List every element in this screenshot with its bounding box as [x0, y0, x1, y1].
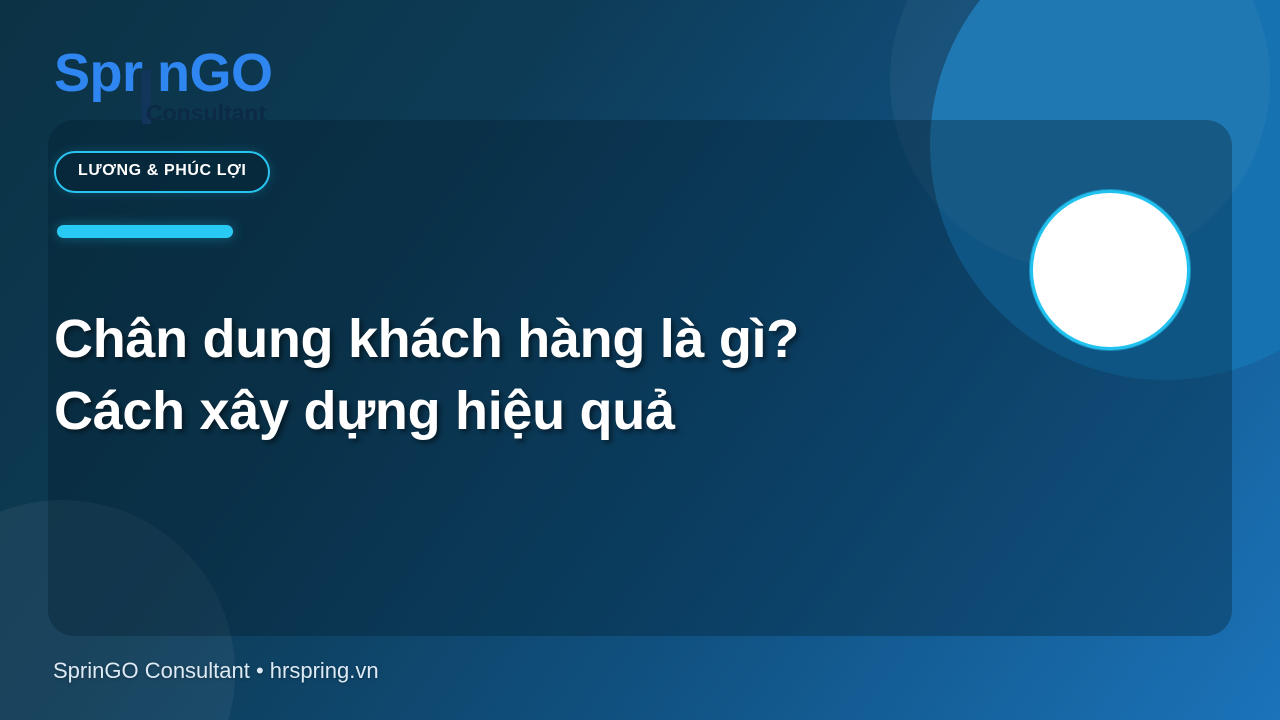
logo-subtitle: Consultant: [146, 102, 266, 125]
logo-word-after: nGO: [157, 43, 273, 103]
page-title-line-2: Cách xây dựng hiệu quả: [54, 376, 1004, 448]
page-title-line-1: Chân dung khách hàng là gì?: [54, 304, 1004, 376]
page-title: Chân dung khách hàng là gì? Cách xây dựn…: [54, 304, 1004, 448]
slide-canvas: SprinGO Consultant LƯƠNG & PHÚC LỢI Chân…: [0, 0, 1280, 720]
category-badge[interactable]: LƯƠNG & PHÚC LỢI: [54, 151, 270, 193]
logo-word-before: Spr: [54, 43, 143, 103]
accent-divider-bar: [57, 225, 233, 238]
category-badge-label: LƯƠNG & PHÚC LỢI: [78, 162, 246, 179]
brand-logo: SprinGO Consultant: [54, 46, 374, 126]
logo-wordmark: SprinGO: [54, 46, 273, 100]
footer-credit: SprinGO Consultant • hrspring.vn: [53, 658, 379, 684]
